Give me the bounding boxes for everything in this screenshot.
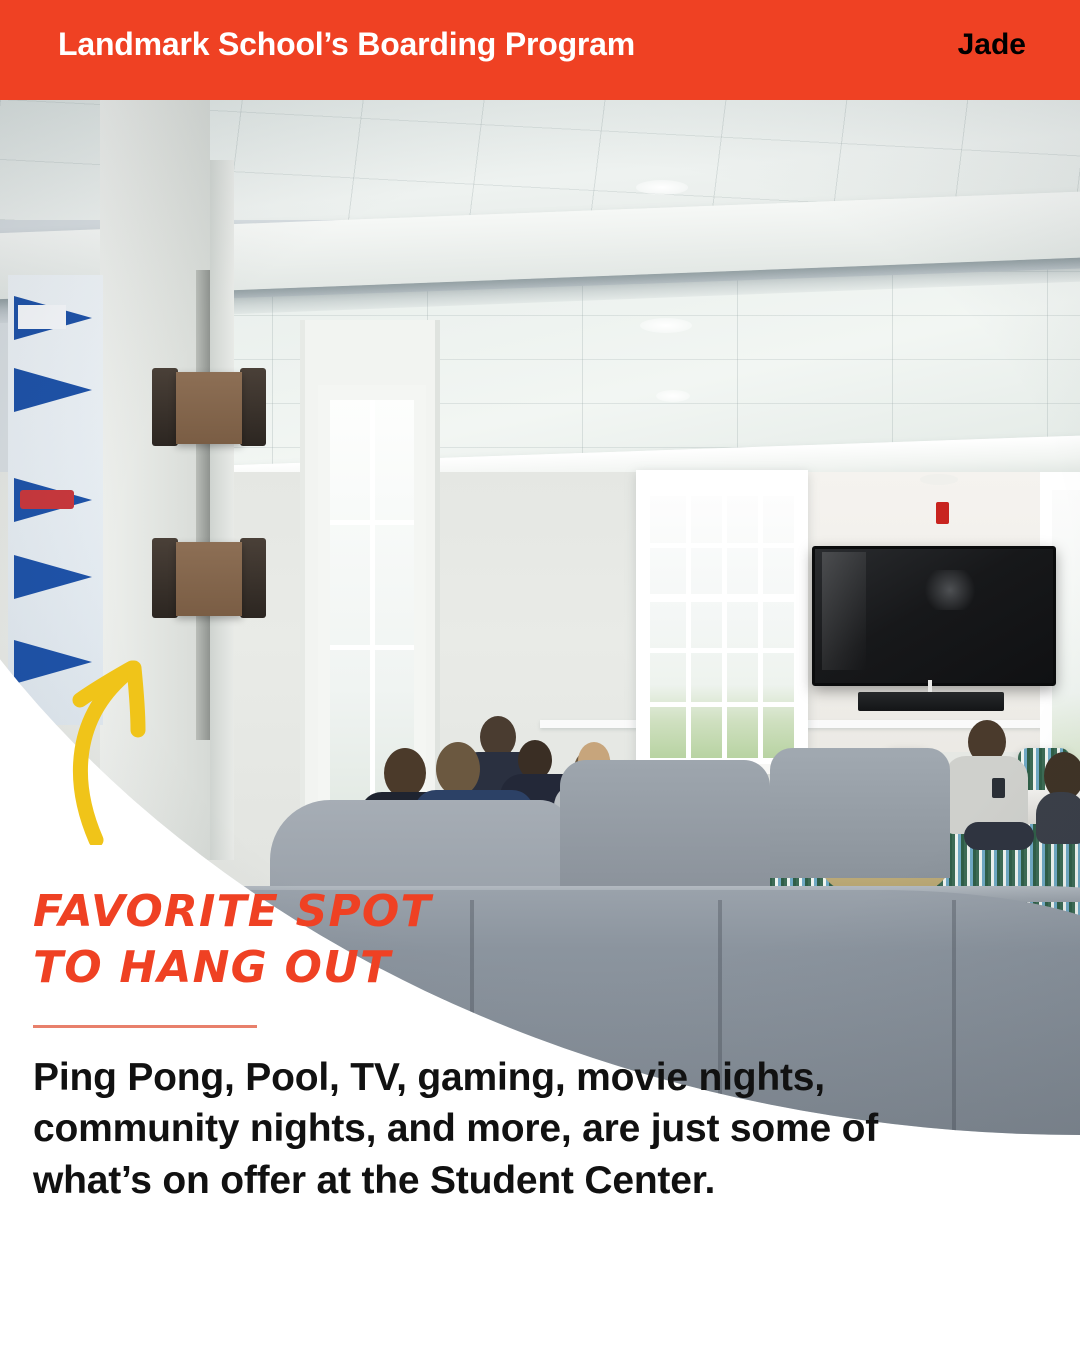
student-name-label: Jade (958, 28, 1026, 62)
headline-divider (33, 1025, 257, 1028)
page-title: Landmark School’s Boarding Program (58, 26, 635, 63)
headline-line-2: to Hang Out (33, 940, 432, 996)
curved-up-arrow-icon (56, 630, 176, 845)
callout-headline: Favorite Spot to Hang Out (33, 884, 432, 997)
header-bar: Landmark School’s Boarding Program Jade (0, 0, 1080, 100)
callout-body-text: Ping Pong, Pool, TV, gaming, movie night… (33, 1052, 993, 1206)
headline-line-1: Favorite Spot (33, 884, 432, 940)
